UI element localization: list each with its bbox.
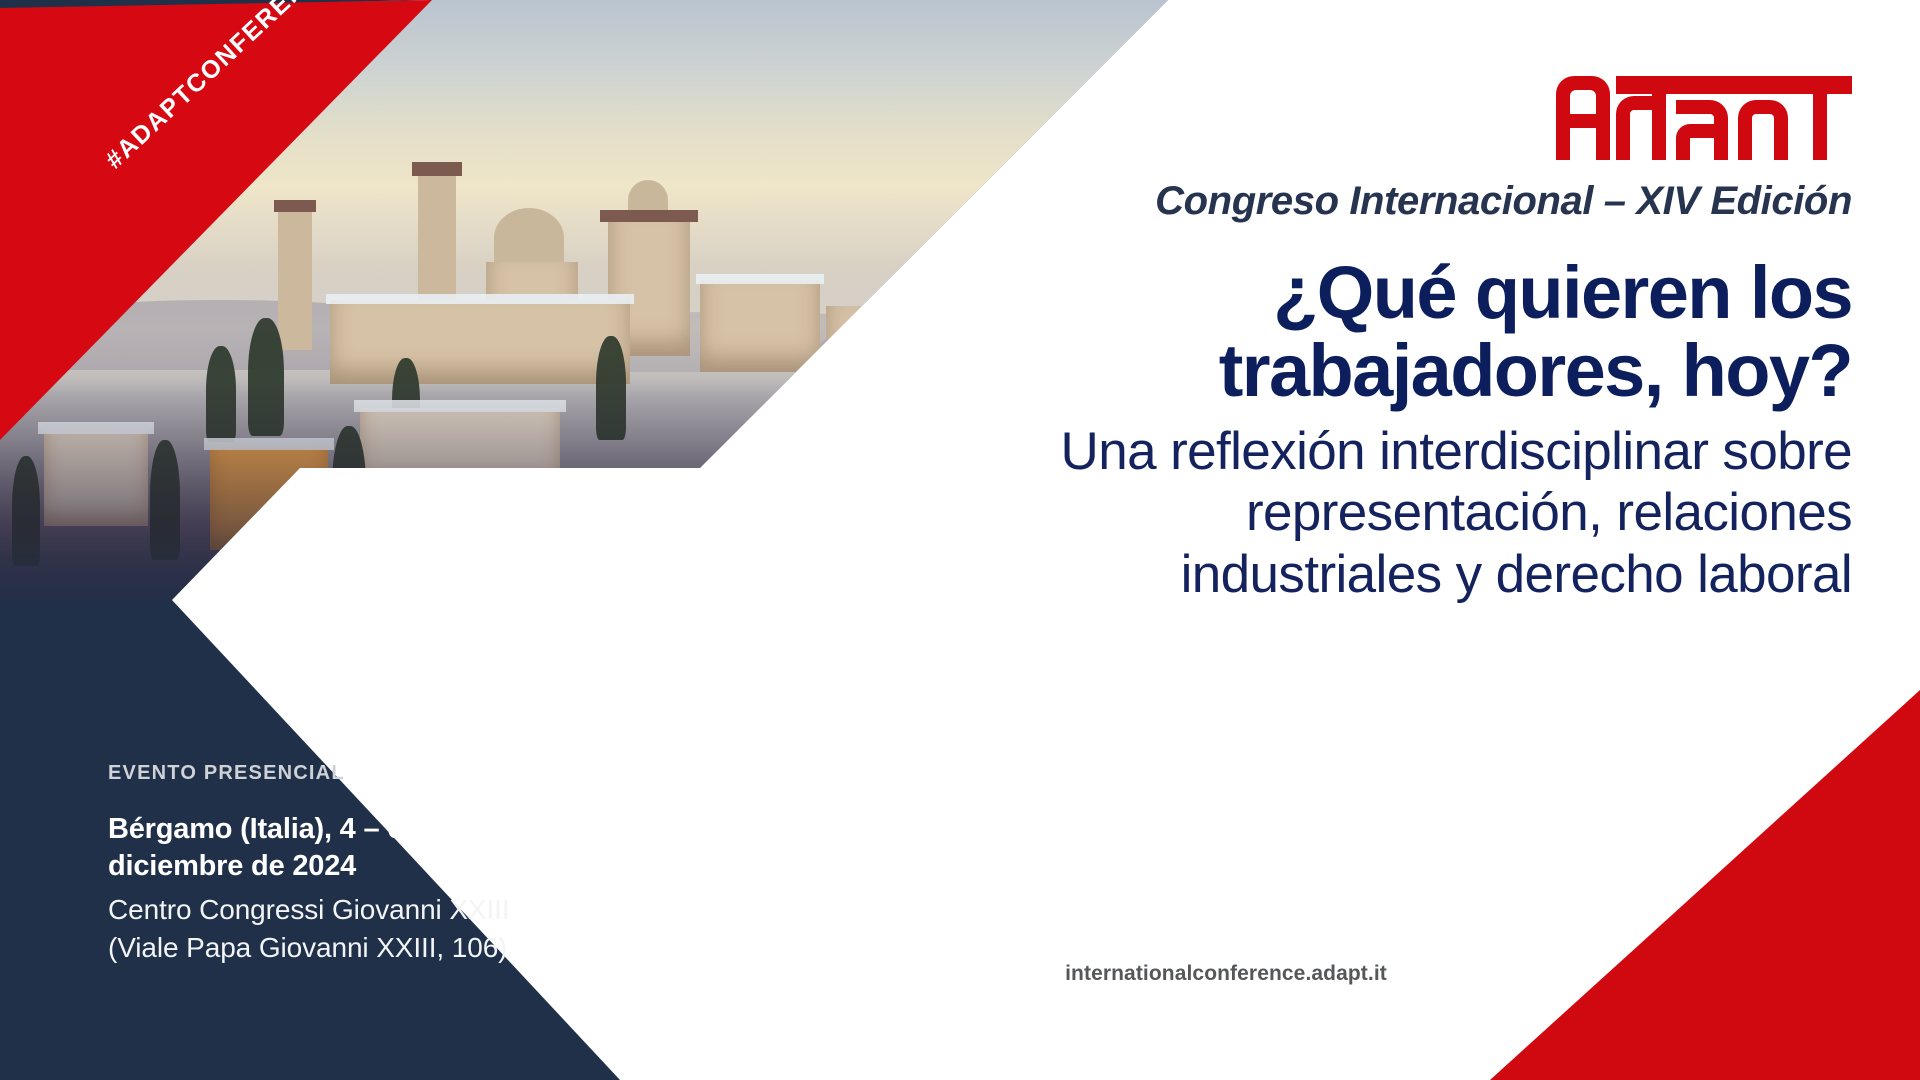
subtitle-line-3: industriales y derecho laboral — [600, 544, 1852, 605]
event-place-date: Bérgamo (Italia), 4 – 6 de diciembre de … — [108, 811, 628, 885]
event-place-line-1: Bérgamo (Italia), 4 – 6 de — [108, 811, 628, 848]
subtitle-line-1: Una reflexión interdisciplinar sobre — [600, 421, 1852, 482]
event-venue-line-2: (Viale Papa Giovanni XXIII, 106) — [108, 929, 628, 967]
website-url-wrapper: internationalconference.adapt.it — [600, 962, 1852, 986]
event-venue: Centro Congressi Giovanni XXIII (Viale P… — [108, 891, 628, 966]
event-info-block: EVENTO PRESENCIAL Bérgamo (Italia), 4 – … — [108, 762, 628, 966]
palace-snow-roof — [326, 294, 634, 304]
poster-canvas: #ADAPTCONFERENCE2024 Congreso Internacio… — [0, 0, 1920, 1080]
basilica-dome — [494, 208, 564, 268]
title-line-2: trabajadores, hoy? — [600, 332, 1852, 410]
event-place-line-2: diciembre de 2024 — [108, 848, 628, 885]
event-format-label: EVENTO PRESENCIAL — [108, 762, 628, 785]
website-url[interactable]: internationalconference.adapt.it — [1065, 962, 1387, 985]
subtitle-line-2: representación, relaciones — [600, 482, 1852, 543]
poster-subtitle: Una reflexión interdisciplinar sobre rep… — [600, 421, 1852, 605]
eyebrow-text: Congreso Internacional – XIV Edición — [600, 178, 1852, 224]
headline-block: Congreso Internacional – XIV Edición ¿Qu… — [600, 178, 1852, 605]
civic-tower-roof — [412, 162, 462, 176]
tower-left — [278, 208, 312, 350]
adapt-logo[interactable] — [1552, 72, 1852, 160]
event-venue-line-1: Centro Congressi Giovanni XXIII — [108, 891, 628, 929]
palace-block — [330, 300, 630, 384]
title-line-1: ¿Qué quieren los — [600, 254, 1852, 332]
poster-title: ¿Qué quieren los trabajadores, hoy? — [600, 254, 1852, 411]
tower-left-roof — [274, 200, 316, 212]
